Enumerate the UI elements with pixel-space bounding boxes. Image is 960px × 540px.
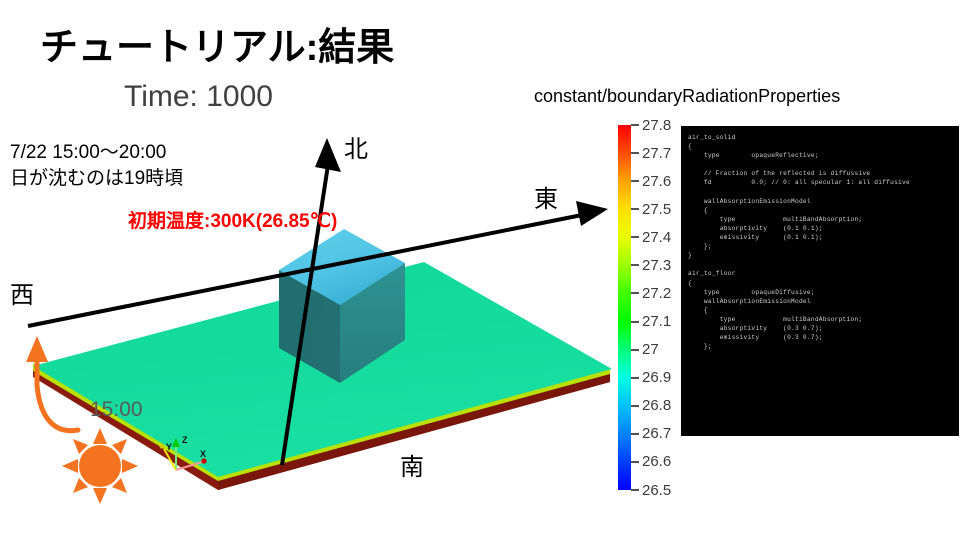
colorbar-tick-label: 27.1 [642,314,671,329]
svg-text:Y: Y [166,442,172,452]
colorbar-ticks: 27.827.727.627.527.427.327.227.12726.926… [631,125,681,490]
svg-text:X: X [200,449,206,459]
colorbar-tick-label: 27.5 [642,202,671,217]
colorbar-tick-dash [631,180,639,182]
colorbar-tick-dash [631,377,639,379]
compass-label-north: 北 [344,129,368,164]
colorbar-tick-label: 27.8 [642,118,671,133]
colorbar-tick-label: 26.6 [642,454,671,469]
compass-label-east: 東 [534,179,558,214]
colorbar-tick-dash [631,433,639,435]
colorbar-tick-label: 27.7 [642,146,671,161]
colorbar-tick-label: 27 [642,342,659,357]
time-readout: Time: 1000 [124,80,273,114]
colorbar-tick-label: 27.2 [642,286,671,301]
colorbar-tick-label: 26.5 [642,483,671,498]
code-panel: air_to_solid { type opaqueReflective; //… [681,126,959,436]
colorbar-tick-dash [631,124,639,126]
colorbar-tick-dash [631,489,639,491]
colorbar-tick-dash [631,461,639,463]
sun-time-label: 15:00 [90,398,143,422]
code-body: air_to_solid { type opaqueReflective; //… [688,133,910,351]
colorbar-tick-dash [631,236,639,238]
axis-triad-icon: Z Y X [158,432,214,482]
colorbar-tick-dash [631,152,639,154]
svg-text:Z: Z [182,435,188,445]
initial-temperature-note: 初期温度:300K(26.85℃) [128,206,337,233]
colorbar-tick-label: 27.3 [642,258,671,273]
colorbar-tick-dash [631,208,639,210]
curved-arrow-icon [22,330,82,440]
colorbar-tick-label: 27.6 [642,174,671,189]
compass-label-south: 南 [400,447,424,482]
colorbar-tick-dash [631,264,639,266]
sun-icon [62,428,138,504]
colorbar-tick-label: 26.8 [642,398,671,413]
code-file-caption: constant/boundaryRadiationProperties [534,86,840,107]
page-title: チュートリアル:結果 [40,16,394,71]
colorbar-tick-label: 26.7 [642,426,671,441]
compass-label-west: 西 [10,275,34,310]
colorbar-gradient [618,125,631,490]
colorbar-tick-label: 26.9 [642,370,671,385]
colorbar-tick-dash [631,405,639,407]
colorbar-tick-label: 27.4 [642,230,671,245]
colorbar-tick-dash [631,321,639,323]
colorbar-tick-dash [631,292,639,294]
colorbar-tick-dash [631,349,639,351]
